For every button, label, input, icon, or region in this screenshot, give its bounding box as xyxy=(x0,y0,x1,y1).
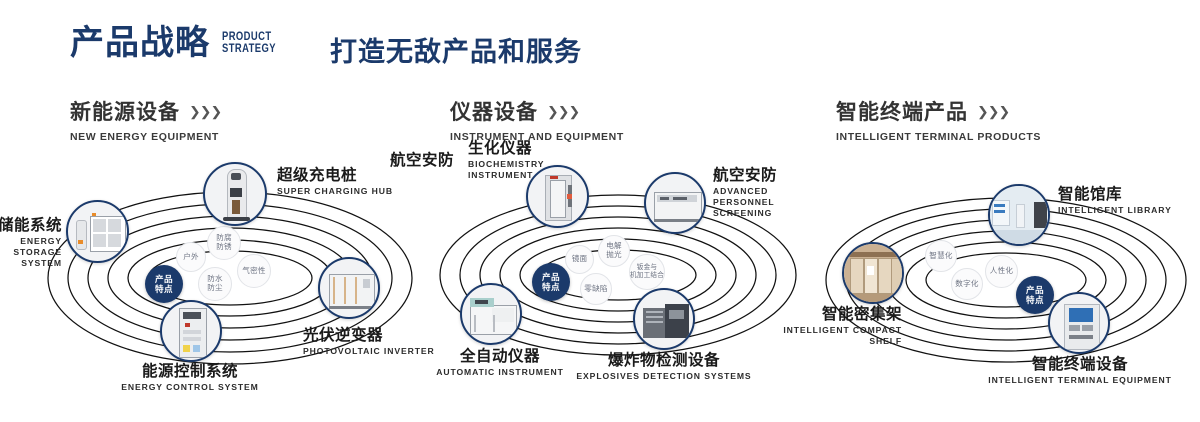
core-label-line2: 特点 xyxy=(542,282,560,292)
node-label-biochemistry-instrument: 生化仪器 BIOCHEMISTRY INSTRUMENT xyxy=(468,140,554,181)
page-title-cn: 产品战略 xyxy=(70,26,210,60)
node-energy-storage-system[interactable] xyxy=(66,200,129,263)
section-title-en: INTELLIGENT TERMINAL PRODUCTS xyxy=(836,131,1041,143)
feature-bubble-mirror: 镜面 xyxy=(565,245,594,274)
automatic-instrument-artwork xyxy=(462,285,520,343)
node-label-cn: 能源控制系统 xyxy=(70,363,310,380)
page-title-en-line1: PRODUCT xyxy=(222,31,276,43)
node-label-cn: 智能密集架 xyxy=(774,306,902,323)
node-label-en: SUPER CHARGING HUB xyxy=(277,186,393,197)
node-intelligent-terminal-equipment[interactable] xyxy=(1048,292,1110,354)
node-label-en: INTELLIGENT TERMINAL EQUIPMENT xyxy=(980,375,1180,386)
product-strategy-infographic: 产品战略 PRODUCT STRATEGY 打造无敌产品和服务 新能源设备 ❯❯… xyxy=(0,0,1200,422)
cluster-intelligent-terminal: 智慧化 人性化 数字化 产品 特点 智能馆库 INTELLIGENT LIBRA… xyxy=(820,180,1192,380)
node-label-cn: 全自动仪器 xyxy=(410,348,590,365)
node-label-en: BIOCHEMISTRY INSTRUMENT xyxy=(468,159,554,181)
page-title-en-line2: STRATEGY xyxy=(222,43,276,55)
feature-bubble-anticorrosion: 防腐 防锈 xyxy=(207,226,241,260)
node-label-intelligent-library: 智能馆库 INTELLIGENT LIBRARY xyxy=(1058,186,1172,216)
node-label-en: ENERGY STORAGE SYSTEM xyxy=(0,236,62,269)
feature-bubble-digital: 数字化 xyxy=(951,268,983,300)
pv-inverter-artwork xyxy=(320,259,378,317)
node-label-super-charging-hub: 超级充电桩 SUPER CHARGING HUB xyxy=(277,167,393,197)
section-title-text: 仪器设备 xyxy=(450,96,538,126)
section-title-cn: 新能源设备 ❯❯❯ xyxy=(70,96,221,126)
node-super-charging-hub[interactable] xyxy=(203,162,267,226)
node-label-explosives-detection-systems: 爆炸物检测设备 EXPLOSIVES DETECTION SYSTEMS xyxy=(574,352,754,382)
section-title-new-energy: 新能源设备 ❯❯❯ NEW ENERGY EQUIPMENT xyxy=(70,96,221,143)
section-title-instrument: 仪器设备 ❯❯❯ INSTRUMENT AND EQUIPMENT xyxy=(450,96,624,143)
cluster-new-energy: 产品 特点 户外 防腐 防锈 防水 防尘 气密性 储能系统 ENERGY STO… xyxy=(40,160,420,390)
cluster-instrument: 产品 特点 镜面 电解 抛光 钣金与 机加工结合 零缺陷 航空安防 生化仪器 B… xyxy=(432,172,804,372)
energy-control-artwork xyxy=(162,302,220,360)
section-title-en: NEW ENERGY EQUIPMENT xyxy=(70,131,221,143)
node-automatic-instrument[interactable] xyxy=(460,283,522,345)
section-title-cn: 仪器设备 ❯❯❯ xyxy=(450,96,624,126)
screening-artwork xyxy=(646,174,704,232)
core-bubble-product-features: 产品 特点 xyxy=(145,265,183,303)
node-energy-control-system[interactable] xyxy=(160,300,222,362)
node-label-automatic-instrument: 全自动仪器 AUTOMATIC INSTRUMENT xyxy=(410,348,590,378)
node-intelligent-compact-shelf[interactable] xyxy=(842,242,904,304)
core-label-line1: 产品 xyxy=(155,274,173,284)
node-photovoltaic-inverter[interactable] xyxy=(318,257,380,319)
node-label-cn: 超级充电桩 xyxy=(277,167,393,184)
node-intelligent-library[interactable] xyxy=(988,184,1050,246)
node-label-en: ENERGY CONTROL SYSTEM xyxy=(70,382,310,393)
feature-bubble-waterproof: 防水 防尘 xyxy=(198,267,232,301)
node-label-advanced-personnel-screening: 航空安防 ADVANCED PERSONNEL SCREENING xyxy=(713,167,809,219)
feature-bubble-electropolishing: 电解 抛光 xyxy=(598,235,630,267)
intelligent-library-artwork xyxy=(990,186,1048,244)
compact-shelf-artwork xyxy=(844,244,902,302)
node-label-cn: 智能终端设备 xyxy=(980,356,1180,373)
feature-bubble-airtight: 气密性 xyxy=(237,254,271,288)
node-advanced-personnel-screening[interactable] xyxy=(644,172,706,234)
node-label-cn: 生化仪器 xyxy=(468,140,554,157)
feature-bubble-zero-defect: 零缺陷 xyxy=(580,273,612,305)
chevron-right-icon: ❯❯❯ xyxy=(977,103,1009,119)
core-label-line1: 产品 xyxy=(1026,285,1044,295)
node-label-intelligent-compact-shelf: 智能密集架 INTELLIGENT COMPACT SHELF xyxy=(774,306,902,347)
node-label-aviation-security-left: 航空安防 xyxy=(390,152,454,169)
node-label-en: ADVANCED PERSONNEL SCREENING xyxy=(713,186,809,219)
node-label-energy-storage-system: 储能系统 ENERGY STORAGE SYSTEM xyxy=(0,217,62,269)
node-label-cn: 光伏逆变器 xyxy=(303,327,435,344)
energy-storage-artwork xyxy=(68,202,127,261)
core-label-line2: 特点 xyxy=(155,284,173,294)
node-label-en: EXPLOSIVES DETECTION SYSTEMS xyxy=(574,371,754,382)
explosives-detection-artwork xyxy=(635,290,693,348)
node-explosives-detection-systems[interactable] xyxy=(633,288,695,350)
page-header: 产品战略 PRODUCT STRATEGY xyxy=(70,26,288,60)
section-title-text: 智能终端产品 xyxy=(836,96,968,126)
node-label-energy-control-system: 能源控制系统 ENERGY CONTROL SYSTEM xyxy=(70,363,310,393)
feature-bubble-smart: 智慧化 xyxy=(925,240,957,272)
core-bubble-product-features: 产品 特点 xyxy=(1016,276,1054,314)
core-label-line1: 产品 xyxy=(542,272,560,282)
section-title-text: 新能源设备 xyxy=(70,96,180,126)
node-label-cn: 智能馆库 xyxy=(1058,186,1172,203)
node-label-cn: 储能系统 xyxy=(0,217,62,234)
chevron-right-icon: ❯❯❯ xyxy=(189,103,221,119)
core-label-line2: 特点 xyxy=(1026,295,1044,305)
charging-hub-artwork xyxy=(205,164,265,224)
node-label-en: INTELLIGENT LIBRARY xyxy=(1058,205,1172,216)
page-subtitle: 打造无敌产品和服务 xyxy=(330,30,582,69)
feature-bubble-sheetmetal-machining: 钣金与 机加工结合 xyxy=(629,254,665,290)
node-label-en: AUTOMATIC INSTRUMENT xyxy=(410,367,590,378)
chevron-right-icon: ❯❯❯ xyxy=(547,103,579,119)
node-label-cn: 航空安防 xyxy=(390,152,454,169)
core-bubble-product-features: 产品 特点 xyxy=(532,263,570,301)
page-title-en: PRODUCT STRATEGY xyxy=(222,31,276,55)
terminal-equipment-artwork xyxy=(1050,294,1108,352)
node-label-en: INTELLIGENT COMPACT SHELF xyxy=(774,325,902,347)
node-label-cn: 航空安防 xyxy=(713,167,809,184)
node-label-cn: 爆炸物检测设备 xyxy=(574,352,754,369)
feature-bubble-humanized: 人性化 xyxy=(985,255,1018,288)
section-title-cn: 智能终端产品 ❯❯❯ xyxy=(836,96,1041,126)
node-label-intelligent-terminal-equipment: 智能终端设备 INTELLIGENT TERMINAL EQUIPMENT xyxy=(980,356,1180,386)
section-title-intelligent-terminal: 智能终端产品 ❯❯❯ INTELLIGENT TERMINAL PRODUCTS xyxy=(836,96,1041,143)
feature-bubble-outdoor: 户外 xyxy=(176,242,206,272)
